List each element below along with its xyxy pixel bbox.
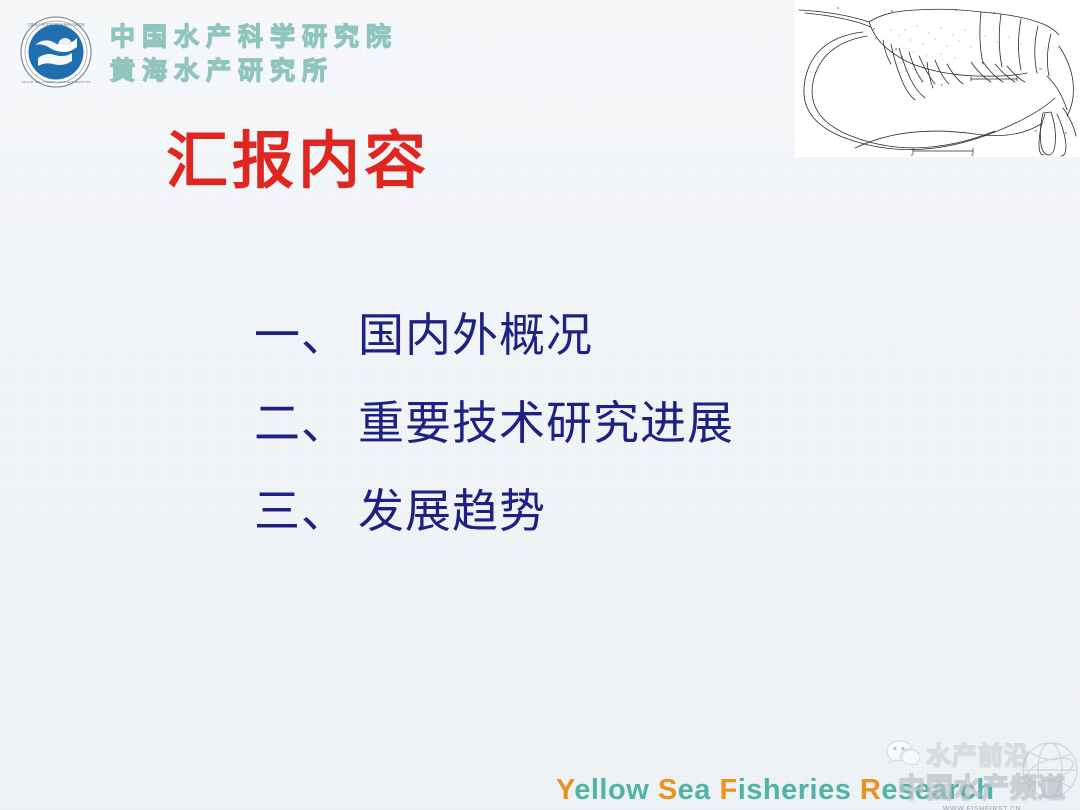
institute-name-line-1: 中国水产科学研究院	[110, 21, 398, 53]
list-item-marker: 三、	[254, 488, 358, 534]
svg-text:YELLOW SEA FISHERIES RESEARCH: YELLOW SEA FISHERIES RESEARCH INSTITUTE	[21, 80, 90, 84]
svg-text:中国水产科学研究院黄海水产研究所: 中国水产科学研究院黄海水产研究所	[27, 22, 85, 27]
svg-text:j: j	[920, 79, 922, 83]
list-item: 二、 重要技术研究进展	[254, 400, 734, 446]
footer-segment: F	[720, 774, 738, 806]
svg-text:h: h	[901, 55, 903, 59]
wechat-icon	[886, 739, 920, 770]
svg-text:b: b	[891, 9, 893, 13]
list-item: 三、 发展趋势	[254, 488, 734, 534]
watermark-url-text: WWW.FISHFIRST.CN	[898, 806, 1066, 810]
footer-segment: ellow	[574, 774, 658, 806]
svg-text:n: n	[1035, 129, 1037, 133]
svg-text:d: d	[993, 11, 995, 15]
shrimp-illustration-figure: ab cd ef gh ij kl mn op q	[795, 0, 1080, 157]
footer-segment: ea	[678, 774, 720, 806]
page-title: 汇报内容	[166, 126, 430, 195]
svg-text:c: c	[955, 8, 957, 12]
footer-segment: isheries	[738, 774, 860, 806]
svg-text:o: o	[1065, 131, 1067, 135]
list-item-label: 重要技术研究进展	[358, 400, 734, 446]
institute-branding: 中国水产科学研究院黄海水产研究所 YELLOW SEA FISHERIES RE…	[18, 14, 398, 90]
list-item-label: 发展趋势	[358, 488, 546, 534]
svg-text:g: g	[895, 47, 897, 51]
svg-text:k: k	[941, 83, 943, 87]
svg-text:a: a	[837, 6, 839, 10]
list-item-label: 国内外概况	[358, 312, 593, 358]
institute-emblem-icon: 中国水产科学研究院黄海水产研究所 YELLOW SEA FISHERIES RE…	[18, 14, 94, 90]
svg-text:i: i	[905, 69, 906, 73]
svg-text:p: p	[911, 153, 913, 157]
agenda-list: 一、 国内外概况 二、 重要技术研究进展 三、 发展趋势	[254, 312, 734, 534]
footer-segment: Y	[556, 774, 574, 806]
footer-segment: S	[658, 774, 678, 806]
globe-icon	[1020, 740, 1080, 805]
svg-text:l: l	[977, 77, 978, 81]
svg-text:q: q	[971, 153, 973, 157]
footer-segment: R	[860, 774, 881, 806]
presentation-slide: 中国水产科学研究院黄海水产研究所 YELLOW SEA FISHERIES RE…	[0, 0, 1080, 810]
institute-name-line-2: 黄海水产研究所	[110, 55, 398, 87]
list-item-marker: 一、	[254, 312, 358, 358]
list-item: 一、 国内外概况	[254, 312, 734, 358]
institute-name-block: 中国水产科学研究院 黄海水产研究所	[110, 17, 398, 87]
svg-text:e: e	[873, 27, 875, 31]
list-item-marker: 二、	[254, 400, 358, 446]
